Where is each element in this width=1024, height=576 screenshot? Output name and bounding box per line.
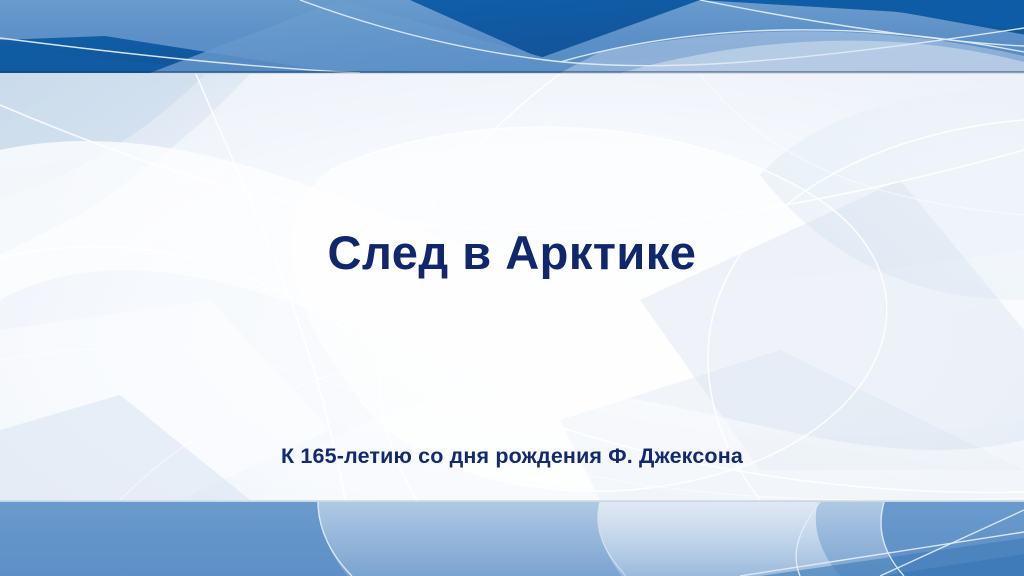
presentation-slide: След в Арктике К 165-летию со дня рожден… xyxy=(0,0,1024,576)
slide-subtitle[interactable]: К 165-летию со дня рождения Ф. Джексона xyxy=(0,444,1024,469)
slide-text-block: След в Арктике К 165-летию со дня рожден… xyxy=(0,0,1024,576)
slide-title[interactable]: След в Арктике xyxy=(0,228,1024,279)
